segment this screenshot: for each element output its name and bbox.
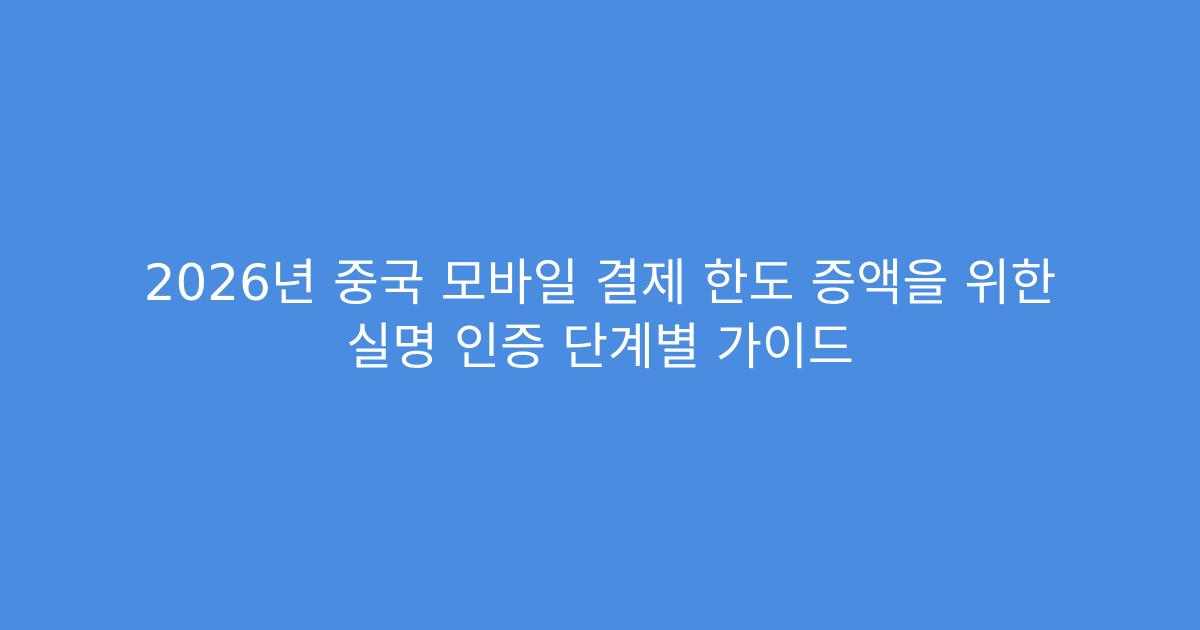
page-title: 2026년 중국 모바일 결제 한도 증액을 위한 실명 인증 단계별 가이드 — [90, 251, 1110, 379]
social-card-canvas: 2026년 중국 모바일 결제 한도 증액을 위한 실명 인증 단계별 가이드 — [0, 0, 1200, 630]
title-block: 2026년 중국 모바일 결제 한도 증액을 위한 실명 인증 단계별 가이드 — [80, 251, 1120, 379]
